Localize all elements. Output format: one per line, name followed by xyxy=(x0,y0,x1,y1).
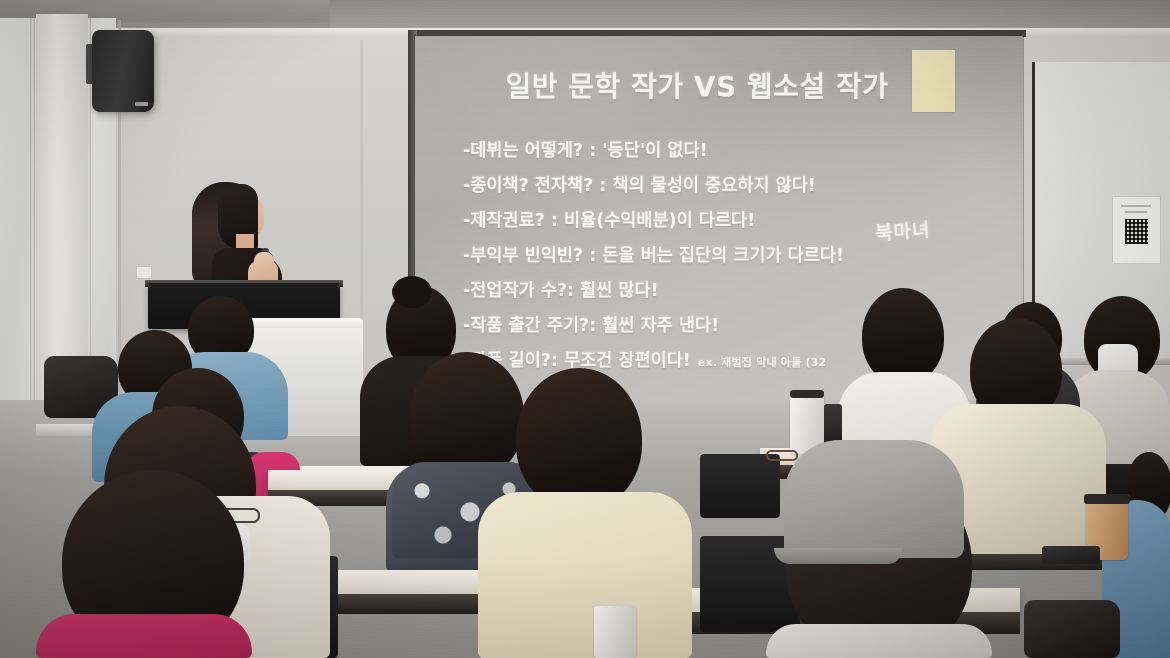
qr-poster xyxy=(1112,196,1161,264)
coffee-lid xyxy=(1084,494,1130,504)
slide-watermark: 북마녀 xyxy=(874,215,931,246)
glasses-on-desk xyxy=(766,450,798,461)
slide-bullet: -종이책? 전자책? : 책의 물성이 중요하지 않다! xyxy=(463,169,1003,204)
tumbler-lid xyxy=(790,390,824,398)
qr-code-icon xyxy=(1125,219,1148,244)
wall-seam-b xyxy=(360,40,363,340)
ceiling-beam-secondary xyxy=(330,0,1170,30)
slide-bullet: -데뷔는 어떻게? : '등단'이 없다! xyxy=(463,134,1003,169)
phone-front-desk xyxy=(1042,546,1100,564)
lecture-hall-screenshot: 일반 문학 작가 VS 웹소설 작가 -데뷔는 어떻게? : '등단'이 없다!… xyxy=(0,0,1170,658)
slide-title: 일반 문학 작가 VS 웹소설 작가 xyxy=(477,65,917,105)
wall-outlet-plate xyxy=(136,266,152,279)
av-cabinet-top xyxy=(243,318,363,328)
slide-bullet: -부익부 빈익빈? : 돈을 버는 집단의 크기가 다르다! xyxy=(463,239,1003,274)
chair-back-center xyxy=(700,454,780,518)
sticky-note xyxy=(912,50,955,112)
baseball-cap xyxy=(784,440,964,558)
wall-speaker-icon xyxy=(92,30,154,112)
bag-front-right xyxy=(1024,600,1120,658)
tumbler-front xyxy=(594,606,636,658)
slide-bullet-example: ex. 재벌집 막내 아들 (32 xyxy=(698,356,827,369)
